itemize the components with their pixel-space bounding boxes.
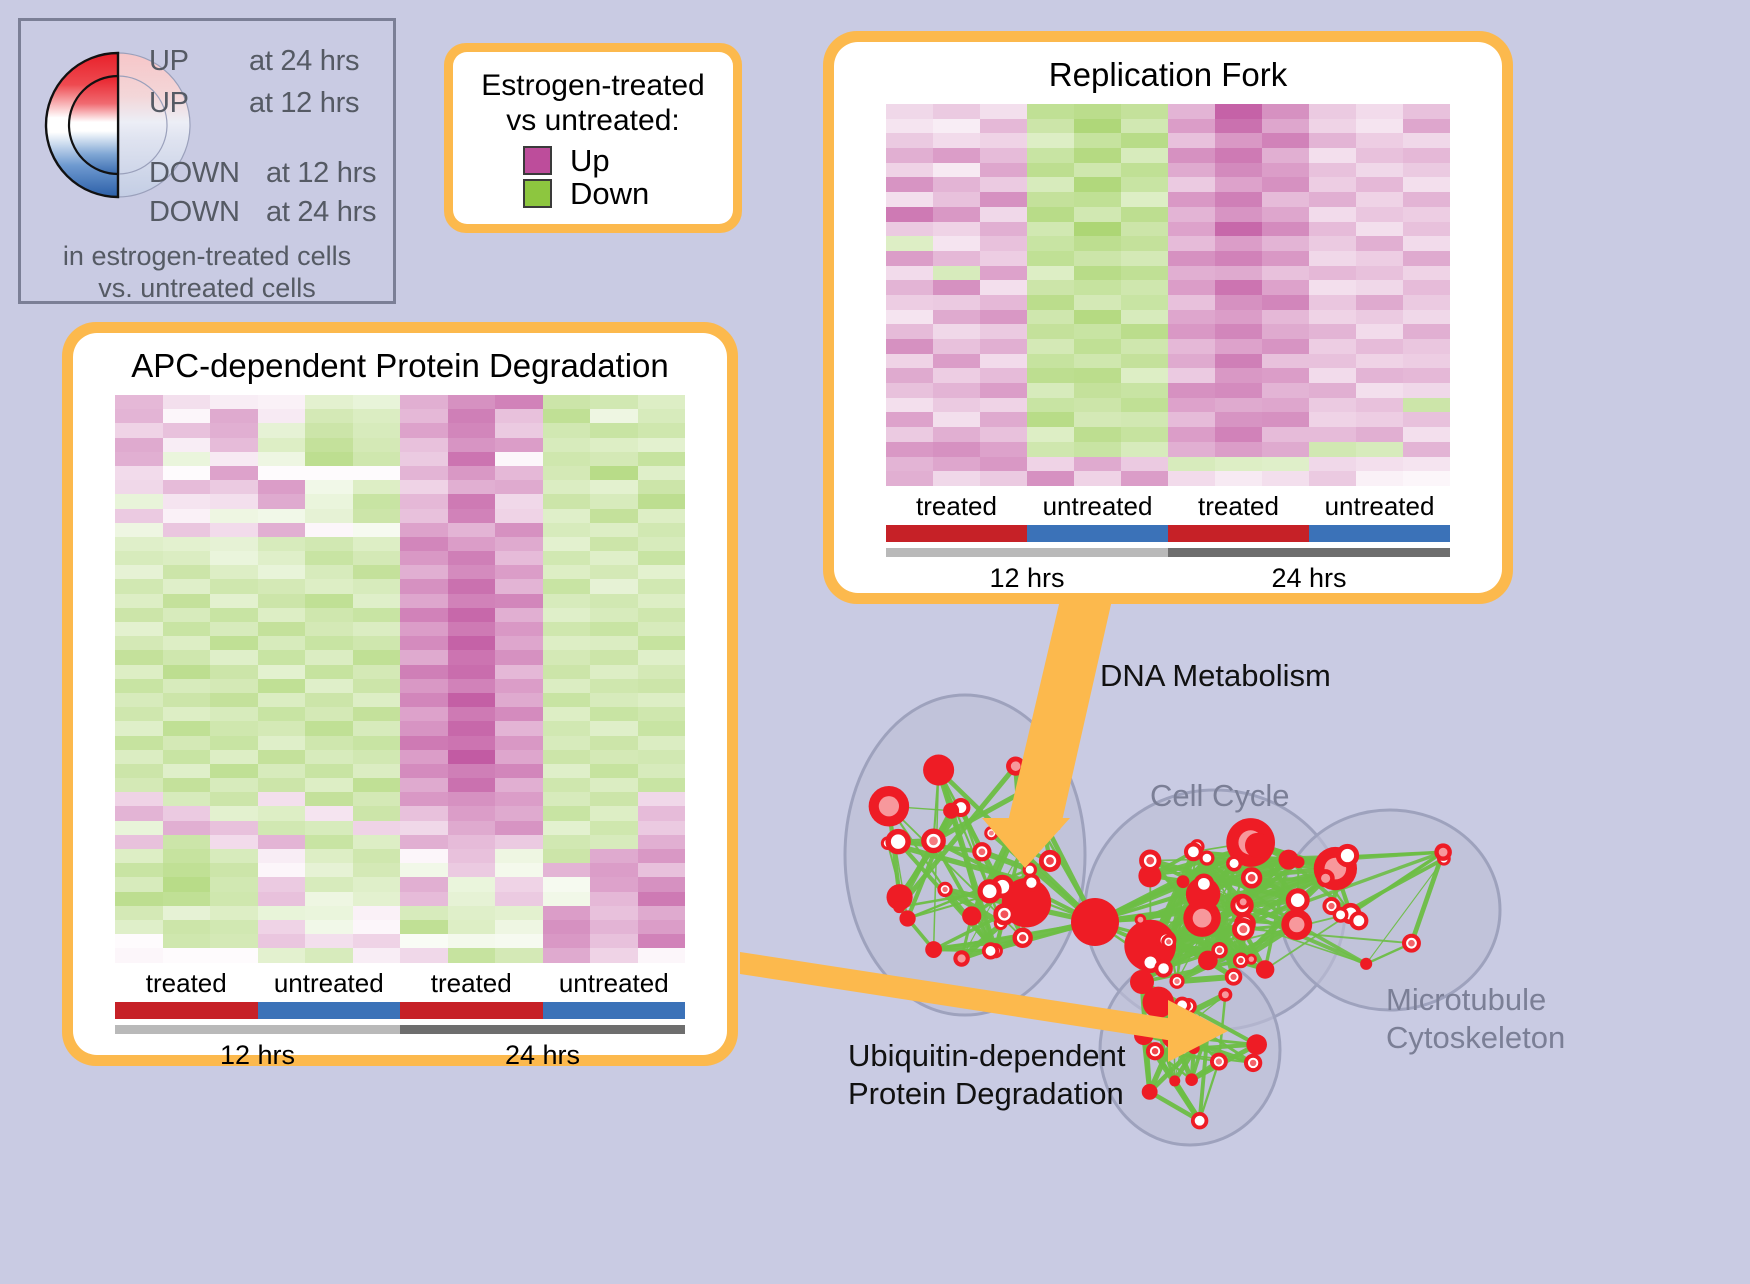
up-swatch-icon — [523, 146, 552, 175]
annotation-group-label: treated — [115, 963, 258, 1002]
network-node-core — [1408, 940, 1415, 947]
heatmap-cell — [1121, 427, 1168, 442]
heatmap-cell — [1309, 266, 1356, 281]
heatmap-cell — [115, 537, 163, 551]
heatmap-cell — [1215, 383, 1262, 398]
annotation-group-label: untreated — [543, 963, 686, 1002]
heatmap-cell — [933, 442, 980, 457]
ring-label-down-24: DOWN — [149, 196, 240, 229]
heatmap-cell — [590, 792, 638, 806]
heatmap-cell — [543, 480, 591, 494]
heatmap-cell — [1309, 310, 1356, 325]
heatmap-cell — [543, 707, 591, 721]
heatmap-cell — [1403, 383, 1450, 398]
heatmap-cell — [543, 792, 591, 806]
heatmap-cell — [448, 579, 496, 593]
heatmap-cell — [305, 693, 353, 707]
heatmap-cell — [1168, 163, 1215, 178]
heatmap-cell — [1027, 412, 1074, 427]
heatmap-cell — [495, 764, 543, 778]
heatmap-cell — [1027, 324, 1074, 339]
network-node-core — [1217, 947, 1223, 953]
heatmap-cell — [400, 778, 448, 792]
heatmap-cell — [1215, 457, 1262, 472]
heatmap-cell — [590, 934, 638, 948]
network-node — [1169, 1075, 1180, 1086]
heatmap-cell — [590, 650, 638, 664]
heatmap-cell — [400, 622, 448, 636]
heatmap-cell — [115, 565, 163, 579]
heatmap-cell — [448, 778, 496, 792]
heatmap-cell — [115, 835, 163, 849]
heatmap-cell — [353, 806, 401, 820]
heatmap-cell — [590, 863, 638, 877]
ring-sublabel-up-12: at 12 hrs — [249, 87, 359, 120]
heatmap-cell — [163, 948, 211, 962]
heatmap-cell — [1309, 251, 1356, 266]
heatmap-cell — [980, 354, 1027, 369]
heatmap-cell — [1356, 339, 1403, 354]
heatmap-cell — [448, 934, 496, 948]
heatmap-cell — [1403, 398, 1450, 413]
heatmap-cell — [1403, 412, 1450, 427]
heatmap-cell — [163, 693, 211, 707]
heatmap-cell — [400, 551, 448, 565]
heatmap-cell — [400, 636, 448, 650]
heatmap-cell — [1262, 251, 1309, 266]
heatmap-cell — [258, 863, 306, 877]
panel-apc-degradation-title: APC-dependent Protein Degradation — [131, 347, 669, 385]
heatmap-cell — [400, 523, 448, 537]
heatmap-cell — [1262, 104, 1309, 119]
heatmap-cell — [638, 537, 686, 551]
heatmap-cell — [590, 750, 638, 764]
heatmap-cell — [210, 636, 258, 650]
heatmap-cell — [353, 750, 401, 764]
annotation-group-label: untreated — [1027, 486, 1168, 525]
heatmap-cell — [543, 934, 591, 948]
annotation-time-labels-apc: 12 hrs24 hrs — [115, 1034, 685, 1071]
heatmap-cell — [638, 892, 686, 906]
heatmap-cell — [400, 395, 448, 409]
heatmap-cell — [638, 750, 686, 764]
heatmap-cell — [115, 934, 163, 948]
heatmap-cell — [543, 452, 591, 466]
heatmap-cell — [1215, 471, 1262, 486]
heatmap-cell — [1262, 148, 1309, 163]
heatmap-cell — [543, 920, 591, 934]
heatmap-cell — [1027, 177, 1074, 192]
heatmap-cell — [115, 892, 163, 906]
heatmap-cell — [1027, 163, 1074, 178]
network-svg — [790, 610, 1750, 1279]
heatmap-cell — [1168, 119, 1215, 134]
heatmap-cell — [1215, 427, 1262, 442]
heatmap-cell — [1309, 457, 1356, 472]
heatmap-cell — [115, 920, 163, 934]
heatmap-cell — [400, 736, 448, 750]
network-node — [1024, 876, 1038, 890]
heatmap-cell — [886, 207, 933, 222]
ring-sublabel-up-24: at 24 hrs — [249, 45, 359, 78]
heatmap-cell — [353, 892, 401, 906]
heatmap-cell — [1309, 427, 1356, 442]
heatmap-cell — [933, 236, 980, 251]
heatmap-cell — [1309, 119, 1356, 134]
heatmap-cell — [1309, 368, 1356, 383]
heatmap-cell — [163, 934, 211, 948]
heatmap-cell — [400, 821, 448, 835]
heatmap-cell — [495, 608, 543, 622]
heatmap-cell — [1215, 163, 1262, 178]
heatmap-cell — [210, 423, 258, 437]
heatmap-cell — [448, 565, 496, 579]
heatmap-cell — [980, 251, 1027, 266]
heatmap-cell — [1215, 236, 1262, 251]
heatmap-cell — [353, 736, 401, 750]
heatmap-cell — [400, 948, 448, 962]
heatmap-cell — [1074, 177, 1121, 192]
cluster-label-ubiquitin: Ubiquitin-dependent — [848, 1038, 1126, 1074]
heatmap-cell — [1027, 280, 1074, 295]
heatmap-cell — [495, 821, 543, 835]
heatmap-cell — [210, 452, 258, 466]
heatmap-cell — [933, 104, 980, 119]
heatmap-cell — [400, 608, 448, 622]
heatmap-cell — [590, 466, 638, 480]
heatmap-cell — [1262, 324, 1309, 339]
heatmap-cell — [163, 395, 211, 409]
heatmap-cell — [1309, 236, 1356, 251]
heatmap-cell — [163, 594, 211, 608]
heatmap-cell — [210, 551, 258, 565]
heatmap-cell — [980, 368, 1027, 383]
network-node-core — [1222, 991, 1229, 998]
heatmap-cell — [886, 398, 933, 413]
heatmap-cell — [1168, 251, 1215, 266]
network-node — [1177, 875, 1190, 888]
network-node — [1338, 846, 1356, 864]
ring-label-up-12: UP — [149, 87, 189, 120]
heatmap-cell — [400, 892, 448, 906]
annotation-group-swatch — [115, 1002, 258, 1019]
heatmap-cell — [1403, 295, 1450, 310]
heatmap-cell — [305, 622, 353, 636]
heatmap-cell — [210, 409, 258, 423]
key-rows: Up Down — [463, 145, 723, 209]
annotation-group-swatch — [543, 1002, 686, 1019]
heatmap-cell — [258, 650, 306, 664]
heatmap-cell — [590, 721, 638, 735]
heatmap-cell — [886, 383, 933, 398]
network-node — [1130, 970, 1154, 994]
heatmap-cell — [980, 119, 1027, 134]
heatmap-cell — [353, 948, 401, 962]
heatmap-cell — [1403, 177, 1450, 192]
heatmap-cell — [210, 778, 258, 792]
heatmap-cell — [163, 579, 211, 593]
heatmap-cell — [163, 438, 211, 452]
heatmap-cell — [400, 849, 448, 863]
network-node-core — [989, 831, 994, 836]
heatmap-cell — [115, 665, 163, 679]
heatmap-cell — [305, 494, 353, 508]
heatmap-cell — [1356, 471, 1403, 486]
heatmap-cell — [353, 650, 401, 664]
heatmap-cell — [115, 608, 163, 622]
heatmap-cell — [1262, 310, 1309, 325]
heatmap-cell — [1168, 339, 1215, 354]
network-node-core — [1249, 956, 1255, 962]
heatmap-cell — [933, 457, 980, 472]
heatmap-cell — [258, 821, 306, 835]
heatmap-cell — [933, 339, 980, 354]
heatmap-cell — [1309, 324, 1356, 339]
heatmap-cell — [210, 594, 258, 608]
heatmap-cell — [448, 622, 496, 636]
heatmap-cell — [638, 551, 686, 565]
network-node — [1028, 777, 1044, 793]
heatmap-cell — [1309, 295, 1356, 310]
heatmap-cell — [1027, 266, 1074, 281]
heatmap-cell — [638, 906, 686, 920]
heatmap-cell — [210, 736, 258, 750]
heatmap-cell — [543, 565, 591, 579]
annotation-time-swatch — [886, 548, 1168, 557]
heatmap-cell — [1403, 339, 1450, 354]
heatmap-cell — [163, 565, 211, 579]
network-node — [1228, 857, 1241, 870]
heatmap-cell — [448, 438, 496, 452]
heatmap-cell — [495, 806, 543, 820]
heatmap-cell — [1027, 457, 1074, 472]
heatmap-cell — [1168, 383, 1215, 398]
network-node-core — [1248, 874, 1256, 882]
heatmap-cell — [258, 806, 306, 820]
heatmap-cell — [1074, 192, 1121, 207]
heatmap-cell — [1356, 398, 1403, 413]
heatmap-cell — [1309, 148, 1356, 163]
heatmap-cell — [305, 679, 353, 693]
heatmap-cell — [1074, 251, 1121, 266]
heatmap-cell — [980, 471, 1027, 486]
network-node — [925, 941, 942, 958]
heatmap-cell — [1074, 471, 1121, 486]
heatmap-cell — [638, 395, 686, 409]
heatmap-cell — [638, 452, 686, 466]
heatmap-cell — [495, 693, 543, 707]
heatmap-cell — [590, 523, 638, 537]
heatmap-cell — [115, 636, 163, 650]
heatmap-cell — [1356, 104, 1403, 119]
heatmap-cell — [590, 594, 638, 608]
heatmap-cell — [638, 438, 686, 452]
heatmap-cell — [638, 565, 686, 579]
heatmap-cell — [305, 934, 353, 948]
heatmap-cell — [210, 863, 258, 877]
heatmap-cell — [353, 537, 401, 551]
heatmap-cell — [543, 466, 591, 480]
heatmap-cell — [1121, 119, 1168, 134]
heatmap-cell — [163, 679, 211, 693]
heatmap-cell — [258, 764, 306, 778]
network-node — [1071, 898, 1119, 946]
heatmap-cell — [163, 494, 211, 508]
heatmap-cell — [1262, 133, 1309, 148]
heatmap-cell — [163, 892, 211, 906]
heatmap-cell — [1121, 133, 1168, 148]
heatmap-cell — [305, 736, 353, 750]
heatmap-cell — [1027, 310, 1074, 325]
heatmap-cell — [163, 835, 211, 849]
heatmap-cell — [980, 236, 1027, 251]
heatmap-cell — [1356, 177, 1403, 192]
heatmap-cell — [448, 523, 496, 537]
heatmap-cell — [258, 423, 306, 437]
heatmap-cell — [210, 537, 258, 551]
heatmap-cell — [1356, 251, 1403, 266]
heatmap-cell — [305, 849, 353, 863]
heatmap-cell — [1262, 471, 1309, 486]
heatmap-cell — [495, 906, 543, 920]
annotation-time-swatch — [400, 1025, 685, 1034]
heatmap-cell — [543, 806, 591, 820]
heatmap-cell — [163, 920, 211, 934]
network-node — [1026, 810, 1048, 832]
heatmap-cell — [933, 266, 980, 281]
heatmap-cell — [495, 494, 543, 508]
heatmap-cell — [258, 679, 306, 693]
network-node — [943, 803, 959, 819]
heatmap-cell — [590, 764, 638, 778]
heatmap-cell — [1074, 133, 1121, 148]
cluster-label-protein-degradation: Protein Degradation — [848, 1076, 1124, 1112]
heatmap-cell — [886, 236, 933, 251]
ring-label-down-12: DOWN — [149, 157, 240, 190]
network-node — [1245, 833, 1270, 858]
heatmap-cell — [1027, 104, 1074, 119]
network-node — [1142, 1084, 1158, 1100]
heatmap-cell — [353, 665, 401, 679]
heatmap-cell — [258, 892, 306, 906]
heatmap-cell — [258, 934, 306, 948]
heatmap-cell — [163, 778, 211, 792]
heatmap-cell — [1168, 133, 1215, 148]
heatmap-cell — [933, 251, 980, 266]
heatmap-cell — [495, 551, 543, 565]
heatmap-cell — [1309, 339, 1356, 354]
heatmap-cell — [886, 368, 933, 383]
heatmap-cell — [980, 133, 1027, 148]
heatmap-cell — [115, 523, 163, 537]
heatmap-cell — [543, 523, 591, 537]
heatmap-cell — [115, 863, 163, 877]
heatmap-cell — [495, 509, 543, 523]
network-node — [1202, 1022, 1214, 1034]
heatmap-cell — [543, 835, 591, 849]
heatmap-cell — [163, 707, 211, 721]
heatmap-cell — [933, 310, 980, 325]
heatmap-cell — [1215, 104, 1262, 119]
heatmap-cell — [980, 295, 1027, 310]
heatmap-cell — [1027, 119, 1074, 134]
heatmap-cell — [1074, 427, 1121, 442]
heatmap-cell — [1262, 412, 1309, 427]
heatmap-cell — [1074, 324, 1121, 339]
heatmap-cell — [638, 665, 686, 679]
network-node — [980, 882, 999, 901]
heatmap-cell — [980, 457, 1027, 472]
heatmap-cell — [1262, 368, 1309, 383]
heatmap-cell — [980, 266, 1027, 281]
heatmap-cell — [1403, 324, 1450, 339]
heatmap-cell — [305, 594, 353, 608]
ring-note-line1: in estrogen-treated cells — [21, 241, 393, 272]
heatmap-cell — [400, 480, 448, 494]
heatmap-cell — [1309, 177, 1356, 192]
heatmap-cell — [1215, 339, 1262, 354]
heatmap-cell — [1121, 251, 1168, 266]
heatmap-cell — [353, 764, 401, 778]
heatmap-cell — [258, 537, 306, 551]
heatmap-cell — [638, 409, 686, 423]
heatmap-cell — [210, 693, 258, 707]
heatmap-cell — [210, 494, 258, 508]
heatmap-cell — [115, 409, 163, 423]
heatmap-cell — [1121, 339, 1168, 354]
heatmap-cell — [495, 707, 543, 721]
heatmap-cell — [1403, 427, 1450, 442]
heatmap-cell — [210, 565, 258, 579]
heatmap-cell — [1356, 236, 1403, 251]
heatmap-cell — [495, 934, 543, 948]
heatmap-cell — [1168, 236, 1215, 251]
heatmap-cell — [543, 863, 591, 877]
heatmap-cell — [1356, 383, 1403, 398]
heatmap-cell — [210, 665, 258, 679]
heatmap-cell — [1356, 119, 1403, 134]
network-node-core — [1046, 857, 1054, 865]
key-row-up: Up — [523, 145, 723, 176]
heatmap-cell — [210, 948, 258, 962]
network-node-core — [1138, 917, 1144, 923]
network-node-core — [1230, 974, 1236, 980]
heatmap-cell — [980, 222, 1027, 237]
heatmap-cell — [495, 721, 543, 735]
heatmap-cell — [163, 849, 211, 863]
heatmap-cell — [1121, 398, 1168, 413]
network-node-core — [1152, 1048, 1158, 1054]
heatmap-cell — [590, 948, 638, 962]
heatmap-cell — [638, 466, 686, 480]
heatmap-cell — [305, 466, 353, 480]
heatmap-cell — [543, 665, 591, 679]
heatmap-cell — [590, 892, 638, 906]
panel-replication-fork-inner: Replication Fork treateduntreatedtreated… — [834, 42, 1502, 593]
panel-replication-fork-title: Replication Fork — [1049, 56, 1287, 94]
heatmap-cell — [400, 721, 448, 735]
heatmap-cell — [400, 665, 448, 679]
heatmap-cell — [353, 409, 401, 423]
heatmap-cell — [1403, 442, 1450, 457]
heatmap-cell — [590, 636, 638, 650]
heatmap-cell — [933, 412, 980, 427]
heatmap-cell — [1027, 222, 1074, 237]
heatmap-cell — [305, 806, 353, 820]
heatmap-cell — [980, 427, 1027, 442]
annotation-replication-fork: treateduntreatedtreateduntreated 12 hrs2… — [886, 486, 1450, 594]
heatmap-cell — [448, 849, 496, 863]
